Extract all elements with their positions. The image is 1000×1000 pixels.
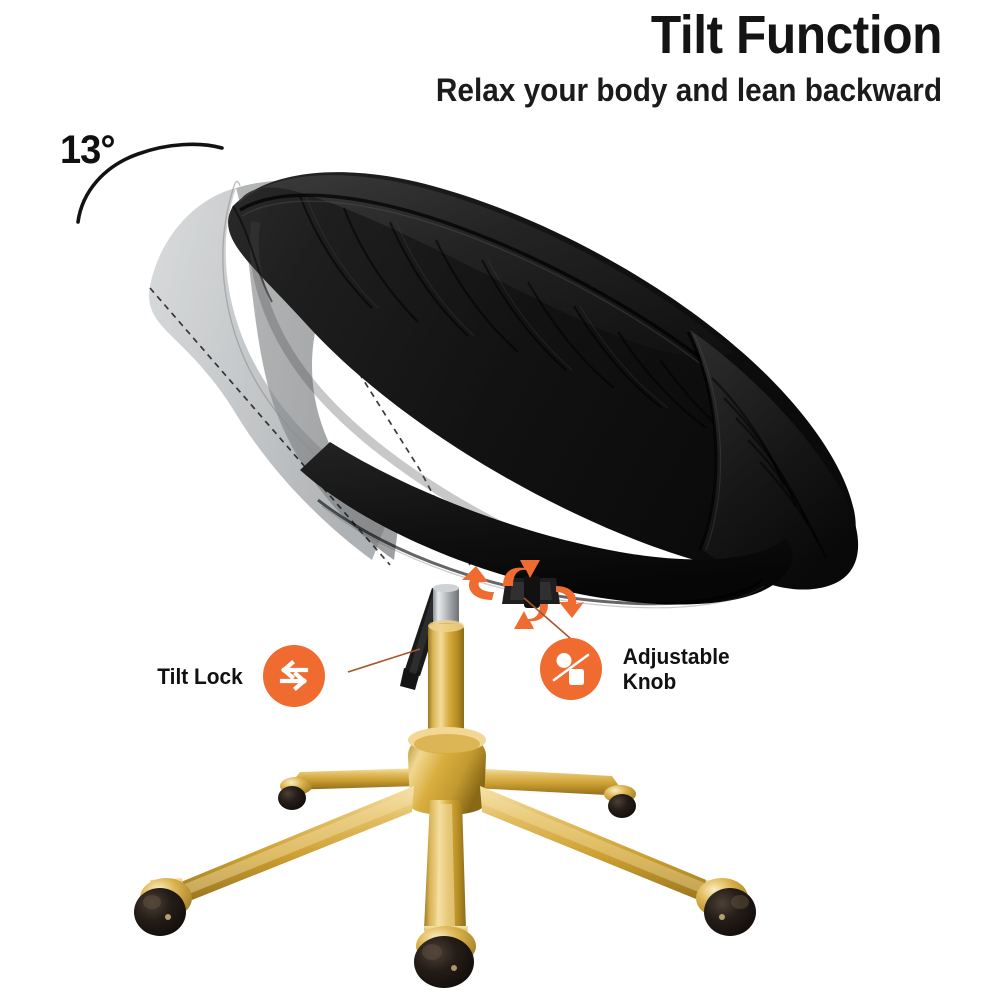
page-subtitle: Relax your body and lean backward — [66, 70, 942, 110]
caster-front — [414, 926, 476, 988]
callout-adjustable-knob[interactable]: Adjustable Knob — [540, 638, 732, 700]
caster-rear-left — [278, 786, 306, 810]
caster-right — [696, 878, 756, 936]
callout-adjustable-knob-badge[interactable] — [540, 638, 602, 700]
page-title: Tilt Function — [75, 0, 942, 66]
tilt-dashed-guides — [150, 196, 470, 565]
chair-seat — [300, 442, 793, 608]
adjustable-knob-part — [502, 576, 560, 608]
gas-lift-column — [428, 584, 464, 734]
leader-line-tilt-lock — [348, 649, 420, 672]
height-adjust-icon — [549, 647, 593, 691]
callout-tilt-lock[interactable]: Tilt Lock — [155, 645, 325, 707]
callout-tilt-lock-badge[interactable] — [263, 645, 325, 707]
tilt-lock-lever — [400, 588, 447, 690]
callout-adjustable-knob-label: Adjustable Knob — [623, 644, 730, 694]
chair-backrest — [228, 172, 856, 576]
caster-left — [134, 878, 192, 936]
channel-tufting — [300, 196, 746, 450]
tilt-angle-label: 13° — [60, 128, 115, 173]
tilt-angle-annotation: 13° — [46, 128, 236, 248]
header: Tilt Function Relax your body and lean b… — [0, 0, 1000, 120]
chair-armrest — [688, 330, 858, 590]
knob-rotation-arrows — [462, 560, 584, 629]
two-way-arrows-icon — [272, 654, 316, 698]
chair-base — [134, 727, 756, 988]
callout-tilt-lock-label: Tilt Lock — [157, 664, 243, 689]
